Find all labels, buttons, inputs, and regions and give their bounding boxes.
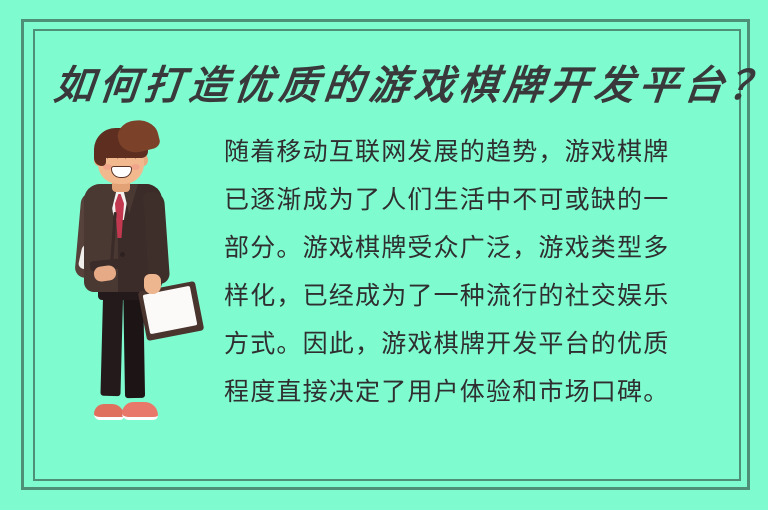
body-line-5: 方式。因此，游戏棋牌开发平台的优质 xyxy=(224,320,730,368)
page-title: 如何打造优质的游戏棋牌开发平台？ xyxy=(51,58,717,114)
businessman-illustration xyxy=(72,126,190,428)
body-line-4: 样化，已经成为了一种流行的社交娱乐 xyxy=(224,272,730,320)
poster-canvas: 如何打造优质的游戏棋牌开发平台？ 随着移动互联网发展的趋势，游戏棋牌 已逐渐成为… xyxy=(0,0,768,510)
shoe-left-icon xyxy=(94,404,124,420)
body-paragraph: 随着移动互联网发展的趋势，游戏棋牌 已逐渐成为了人们生活中不可或缺的一 部分。游… xyxy=(224,128,730,416)
body-line-1: 随着移动互联网发展的趋势，游戏棋牌 xyxy=(224,128,730,176)
jacket-button-icon xyxy=(120,252,125,257)
body-line-3: 部分。游戏棋牌受众广泛，游戏类型多 xyxy=(224,224,730,272)
shoe-right-icon xyxy=(122,402,158,420)
body-line-6: 程度直接决定了用户体验和市场口碑。 xyxy=(224,368,730,416)
hand-right-icon xyxy=(144,274,161,294)
cheek-right-icon xyxy=(131,164,140,170)
body-line-2: 已逐渐成为了人们生活中不可或缺的一 xyxy=(224,176,730,224)
